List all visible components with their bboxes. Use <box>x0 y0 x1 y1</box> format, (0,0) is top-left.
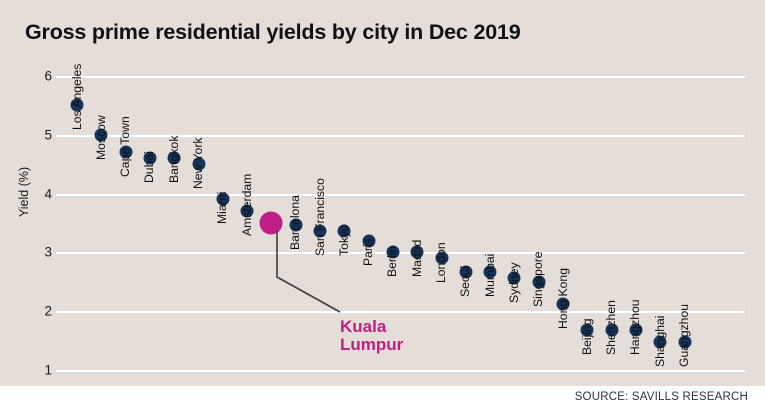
category-label-san-francisco: San Francisco <box>313 178 327 256</box>
kuala-lumpur-annotation: Kuala Lumpur <box>340 318 403 355</box>
source-caption: SOURCE: SAVILLS RESEARCH <box>575 391 748 403</box>
category-label-hong-kong: Hong Kong <box>556 268 570 329</box>
y-tick-label-5: 5 <box>12 127 52 142</box>
category-label-los-angeles: Los Angeles <box>70 64 84 130</box>
category-label-shanghai: Shanghai <box>653 315 667 367</box>
data-point-kuala-lumpur <box>260 212 283 235</box>
category-label-seoul: Seoul <box>458 266 472 297</box>
category-label-amsterdam: Amsterdam <box>240 174 254 236</box>
category-label-shenzhen: Shenzhen <box>604 300 618 355</box>
category-label-miami: Miami <box>215 192 229 225</box>
chart-figure: Gross prime residential yields by city i… <box>0 0 765 413</box>
category-label-beijing: Beijing <box>580 318 594 355</box>
category-label-hangzhou: Hangzhou <box>628 299 642 355</box>
category-label-new-york: New York <box>191 138 205 190</box>
gridline-3 <box>56 252 745 254</box>
category-label-cape-town: Cape Town <box>118 117 132 178</box>
gridline-5 <box>56 135 745 137</box>
category-label-sydney: Sydney <box>507 262 521 303</box>
category-label-berlin: Berlin <box>385 246 399 277</box>
gridline-4 <box>56 194 745 196</box>
category-label-london: London <box>434 243 448 284</box>
gridline-1 <box>56 370 745 372</box>
y-tick-label-2: 2 <box>12 304 52 319</box>
category-label-singapore: Singapore <box>531 251 545 307</box>
category-label-barcelona: Barcelona <box>288 195 302 250</box>
plot-area: 654321 Yield (%) Los AngelesMoscowCape T… <box>0 0 765 386</box>
y-tick-label-6: 6 <box>12 69 52 84</box>
category-label-bangkok: Bangkok <box>167 136 181 183</box>
y-tick-label-1: 1 <box>12 363 52 378</box>
y-axis-label: Yield (%) <box>17 147 31 237</box>
category-label-madrid: Madrid <box>410 240 424 277</box>
y-tick-label-3: 3 <box>12 245 52 260</box>
category-label-mumbai: Mumbai <box>483 253 497 296</box>
category-label-guangzhou: Guangzhou <box>677 304 691 367</box>
category-label-paris: Paris <box>361 238 375 266</box>
category-label-moscow: Moscow <box>94 115 108 160</box>
category-label-dubai: Dubai <box>142 151 156 183</box>
category-label-tokyo: Tokyo <box>337 224 351 256</box>
gridline-6 <box>56 76 745 78</box>
